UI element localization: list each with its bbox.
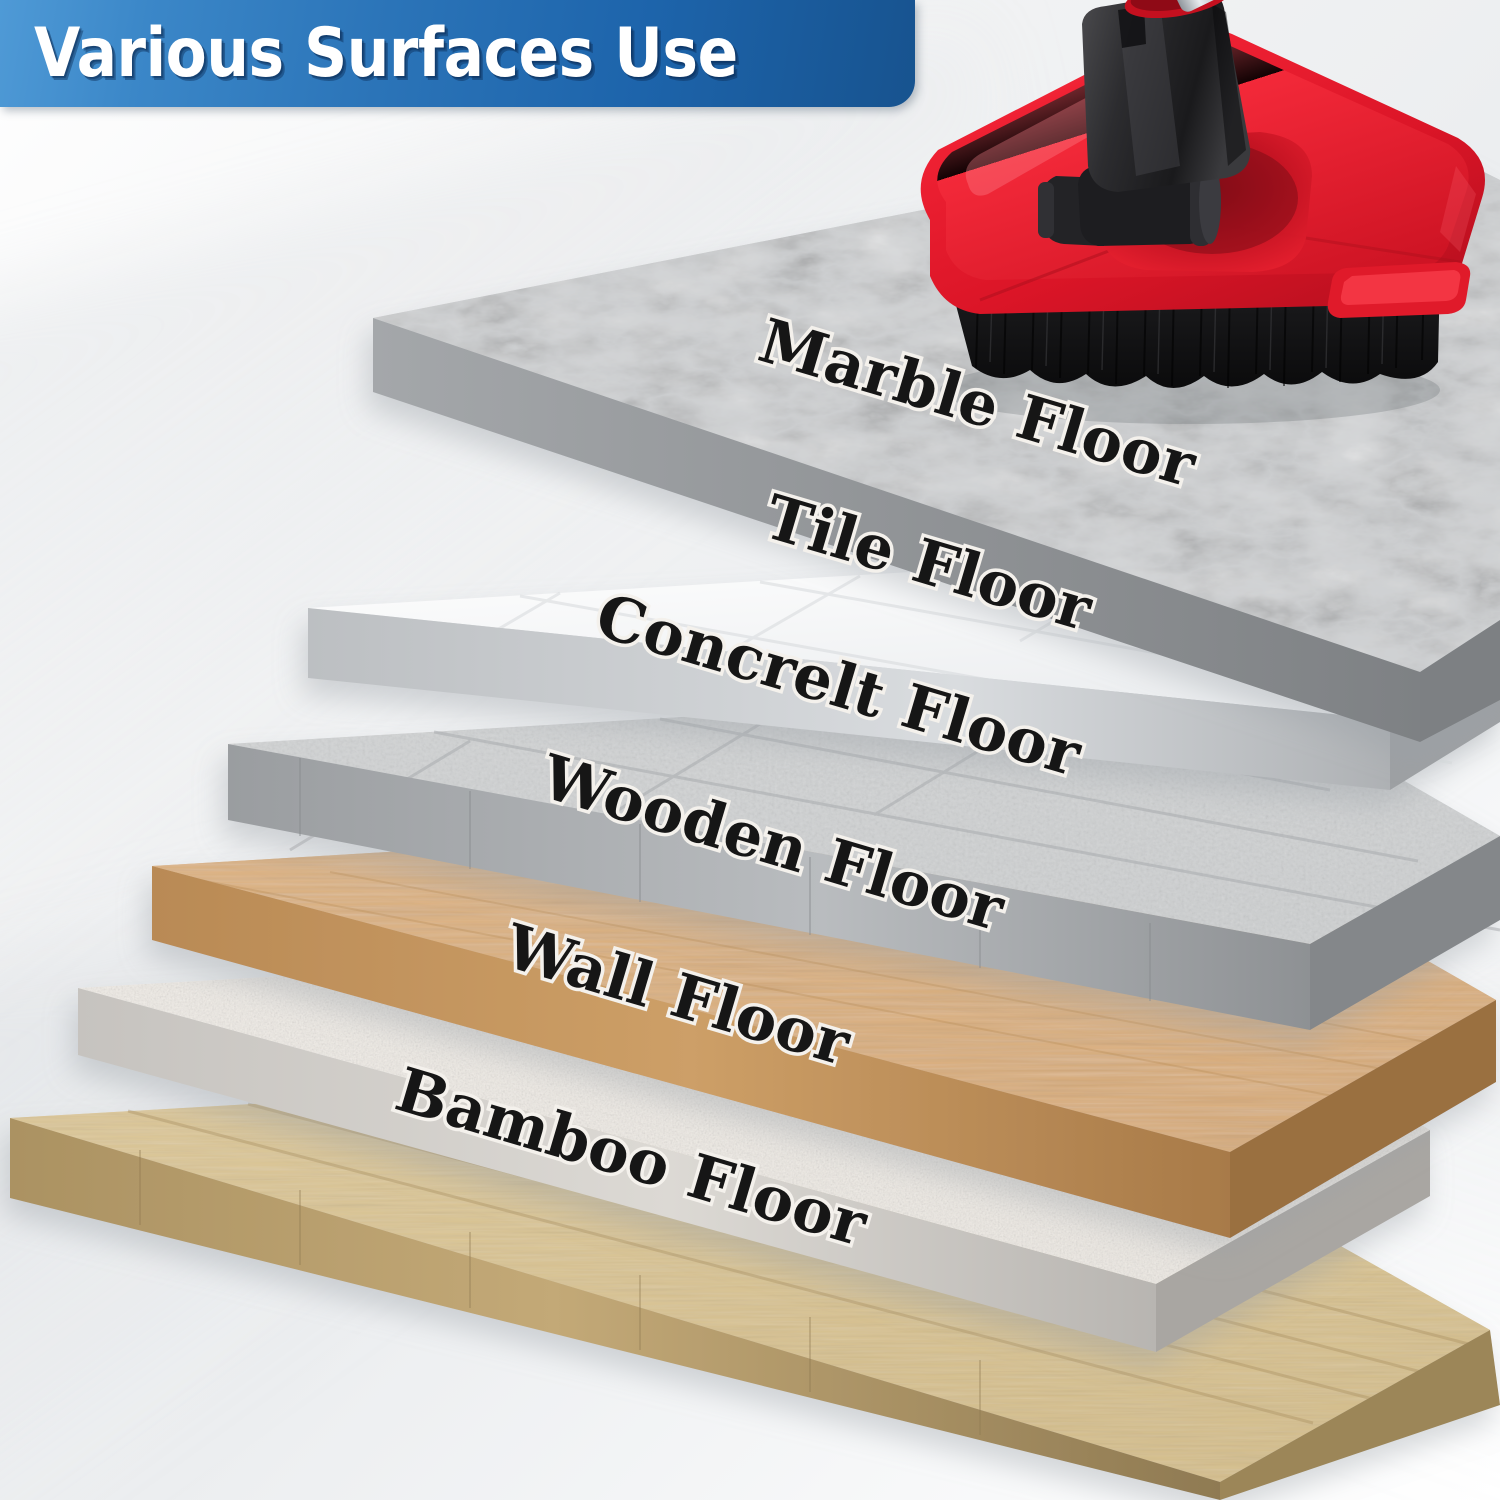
brush-side-clip xyxy=(1328,262,1470,318)
product-infographic: Marble Floor Tile Floor Concrelt Floor W… xyxy=(0,0,1500,1500)
headline-banner: Various Surfaces Use xyxy=(0,0,915,107)
banner-title: Various Surfaces Use xyxy=(34,14,738,93)
